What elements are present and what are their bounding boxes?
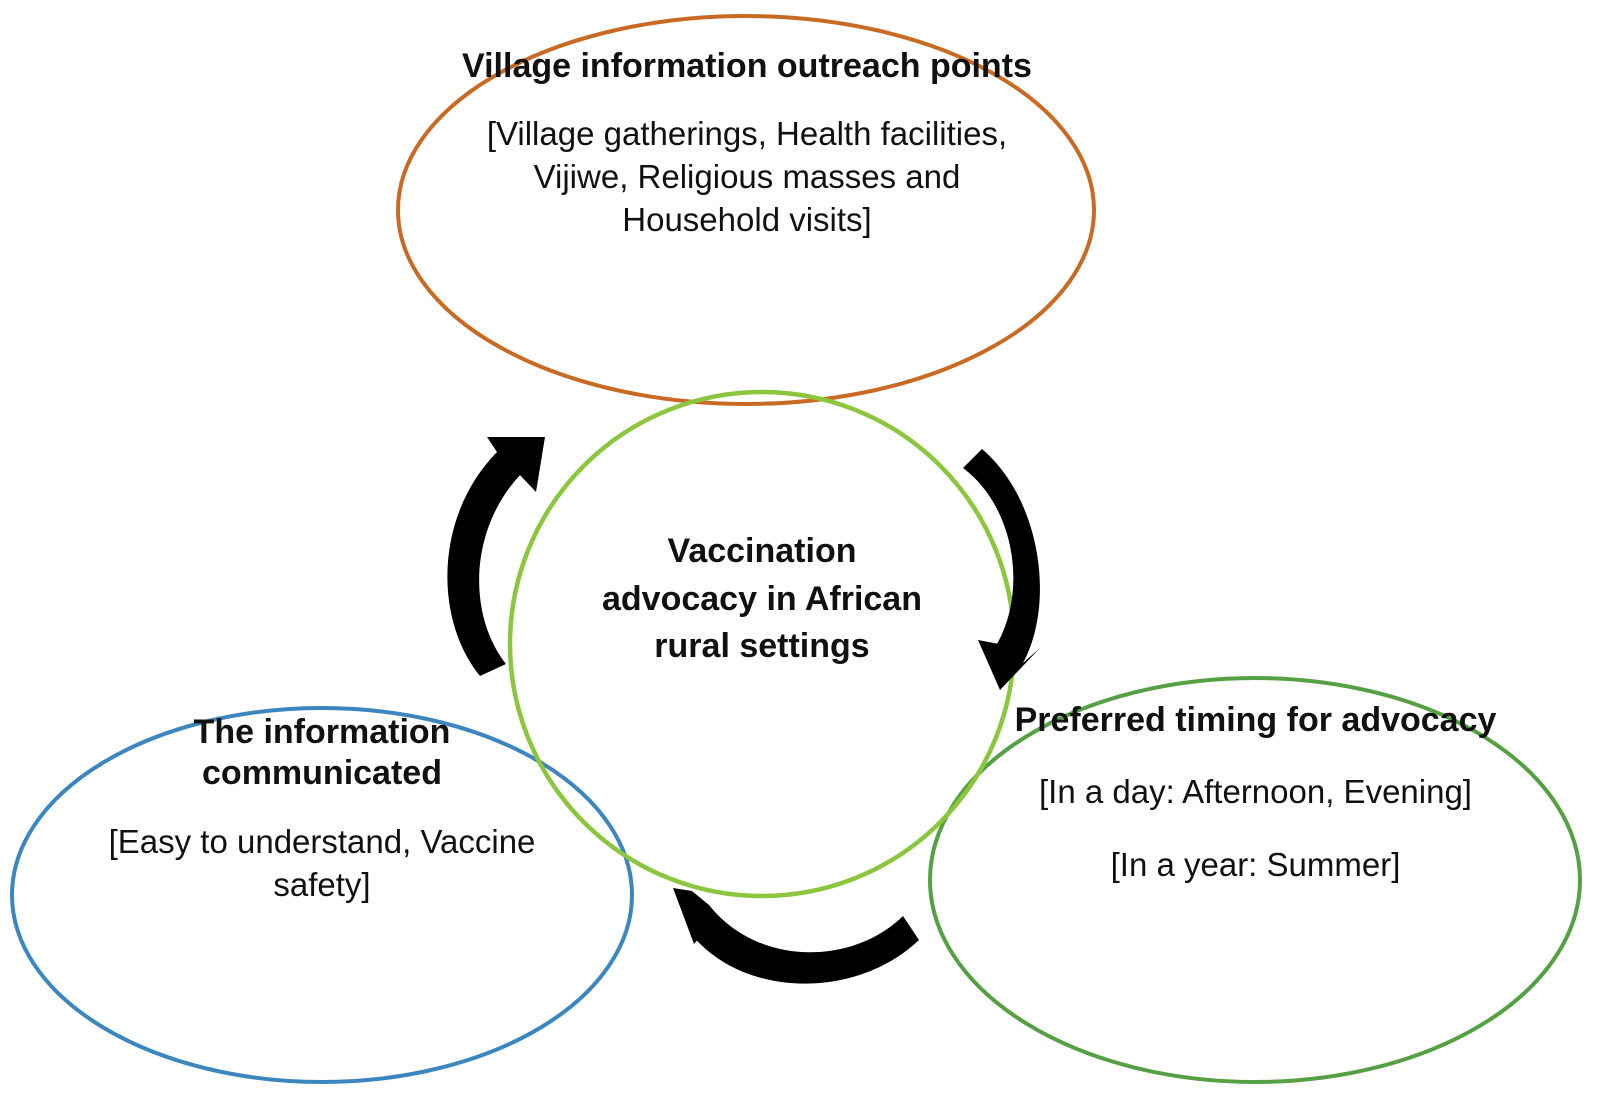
- diagram-canvas: Village information outreach points [Vil…: [0, 0, 1600, 1093]
- arrow-bottom-icon: [673, 888, 919, 984]
- node-detail-preferred-timing-year: [In a year: Summer]: [1003, 844, 1508, 887]
- node-label-village-outreach: Village information outreach points [Vil…: [452, 46, 1042, 242]
- node-label-preferred-timing: Preferred timing for advocacy [In a day:…: [1003, 700, 1508, 887]
- arrow-left-icon: [447, 437, 545, 676]
- node-label-information-communicated: The information communicated [Easy to un…: [72, 712, 572, 907]
- node-detail-information-communicated: [Easy to understand, Vaccine safety]: [72, 821, 572, 907]
- node-title-information-communicated: The information communicated: [72, 712, 572, 795]
- node-label-center-topic: Vaccination advocacy in African rural se…: [592, 528, 932, 671]
- node-title-village-outreach: Village information outreach points: [452, 46, 1042, 87]
- node-title-preferred-timing: Preferred timing for advocacy: [1003, 700, 1508, 741]
- node-detail-preferred-timing-day: [In a day: Afternoon, Evening]: [1003, 771, 1508, 814]
- node-detail-village-outreach: [Village gatherings, Health facilities, …: [452, 113, 1042, 242]
- node-title-center-topic: Vaccination advocacy in African rural se…: [592, 528, 932, 671]
